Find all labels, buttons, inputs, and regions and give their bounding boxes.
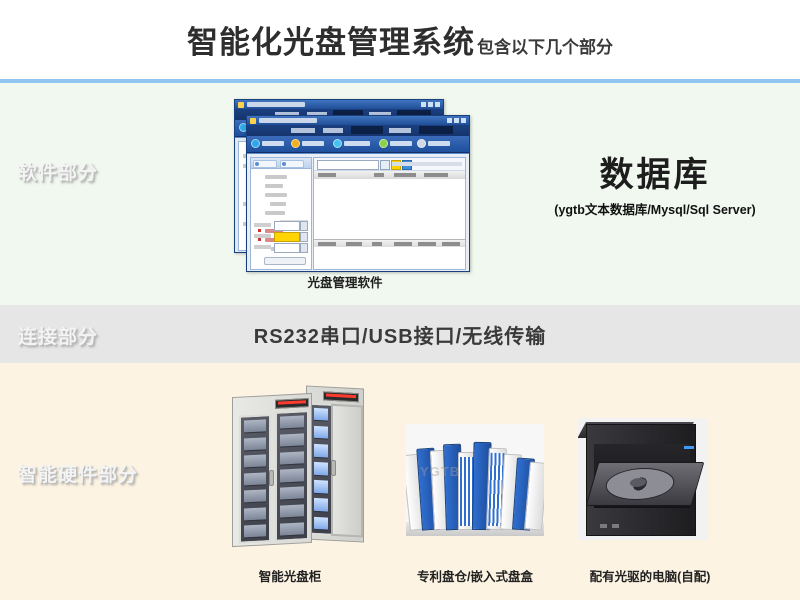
tab-disc-search[interactable] <box>280 160 304 168</box>
cabinet-caption: 智能光盘柜 <box>215 566 365 585</box>
hardware-section-label: 智能硬件部分 <box>18 460 138 487</box>
right-content-panel <box>313 157 466 270</box>
cabinet-led-display <box>323 391 359 402</box>
software-section-label: 软件部分 <box>18 158 98 185</box>
window-title-text <box>259 118 317 123</box>
cabinet-handle <box>331 460 336 476</box>
pc-caption: 配有光驱的电脑(自配) <box>570 566 730 585</box>
database-title: 数据库 <box>520 158 790 194</box>
record-entry-form[interactable] <box>254 221 308 265</box>
header-title-group: 智能化光盘管理系统 包含以下几个部分 <box>187 17 613 62</box>
pc-power-led <box>684 446 694 449</box>
database-subtitle: (ygtb文本数据库/Mysql/Sql Server) <box>520 199 790 218</box>
computer-with-optical-drive-photo <box>578 418 708 540</box>
window-titlebar-back <box>235 100 443 109</box>
database-block: 数据库 (ygtb文本数据库/Mysql/Sql Server) <box>520 158 790 218</box>
tray-caption: 专利盘仓/嵌入式盘盒 <box>395 566 555 585</box>
cabinet-shelves-blue <box>313 407 329 532</box>
pc-power-button[interactable] <box>600 524 607 528</box>
window-title-text <box>247 102 305 107</box>
poster-root: 智能化光盘管理系统 包含以下几个部分 软件部分 <box>0 0 800 600</box>
disc-management-software-window-front <box>246 115 470 272</box>
cabinet-glass-door-blue <box>309 403 333 536</box>
window-titlebar-front <box>247 116 469 125</box>
panel-tab-strip[interactable] <box>251 158 311 169</box>
app-icon <box>238 102 244 108</box>
pc-reset-button[interactable] <box>612 524 619 528</box>
photo-watermark: YGTB <box>420 464 460 479</box>
search-bar[interactable] <box>314 158 465 171</box>
form-row-disc-code-highlight[interactable] <box>254 232 308 240</box>
cabinet-glass-door-left <box>239 414 271 544</box>
form-submit-button[interactable] <box>264 257 306 265</box>
software-caption: 光盘管理软件 <box>250 272 440 291</box>
cabinet-led-display <box>275 398 309 409</box>
smart-disc-cabinet-photo <box>216 381 366 553</box>
page-header: 智能化光盘管理系统 包含以下几个部分 <box>0 0 800 79</box>
page-subtitle: 包含以下几个部分 <box>477 33 613 58</box>
cabinet-right-unit <box>306 385 364 542</box>
disc-tray-cartridge-photo: YGTB <box>406 424 544 536</box>
record-count-text <box>392 162 462 166</box>
cabinet-handle <box>269 470 274 486</box>
search-input[interactable] <box>317 160 379 170</box>
form-row-disc-name[interactable] <box>254 243 308 251</box>
search-icon[interactable] <box>380 160 390 170</box>
connection-section-label: 连接部分 <box>18 322 98 349</box>
window-controls[interactable] <box>447 118 466 123</box>
tab-disc-browse[interactable] <box>253 160 277 168</box>
cabinet-left-unit <box>232 393 312 547</box>
page-title: 智能化光盘管理系统 <box>187 17 475 62</box>
window-body-front <box>247 153 469 272</box>
left-navigation-panel <box>250 157 312 270</box>
window-controls[interactable] <box>421 102 440 107</box>
cabinet-shelves-right <box>279 414 305 537</box>
window-menubar-front[interactable] <box>247 125 469 136</box>
app-icon <box>250 118 256 124</box>
cabinet-shelves-left <box>243 418 267 539</box>
upper-table-body[interactable] <box>314 179 465 240</box>
lower-table-body[interactable] <box>314 247 465 269</box>
connection-methods-text: RS232串口/USB接口/无线传输 <box>232 320 568 349</box>
cabinet-glass-door-right <box>275 410 309 542</box>
window-toolbar-front[interactable] <box>247 136 469 153</box>
form-row-disc-id[interactable] <box>254 221 308 229</box>
